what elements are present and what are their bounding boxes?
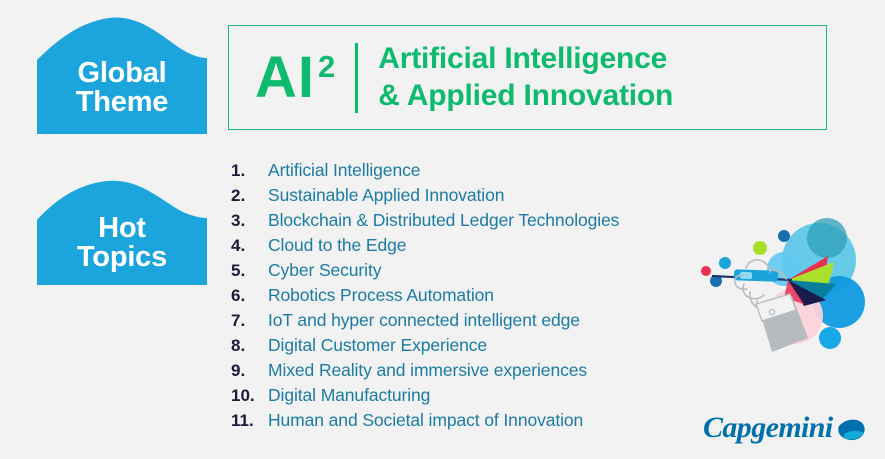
list-item-number: 6. xyxy=(231,286,268,306)
list-item-number: 2. xyxy=(231,186,268,206)
capgemini-swoosh-icon xyxy=(838,420,864,440)
list-item: 9. Mixed Reality and immersive experienc… xyxy=(231,360,619,385)
hand-throwing-dart-illustration xyxy=(700,218,872,373)
list-item-label: IoT and hyper connected intelligent edge xyxy=(268,310,580,331)
list-item-label: Human and Societal impact of Innovation xyxy=(268,410,583,431)
list-item: 5. Cyber Security xyxy=(231,260,619,285)
capgemini-wordmark: Capgemini xyxy=(703,411,834,444)
theme-title-text: Artificial Intelligence & Applied Innova… xyxy=(378,41,673,114)
list-item-number: 3. xyxy=(231,211,268,231)
list-item: 8. Digital Customer Experience xyxy=(231,335,619,360)
theme-title-box: AI 2 Artificial Intelligence & Applied I… xyxy=(228,25,827,130)
capgemini-logo: Capgemini xyxy=(703,405,868,451)
list-item-number: 10. xyxy=(231,386,268,406)
list-item-number: 1. xyxy=(231,161,268,181)
list-item-label: Cloud to the Edge xyxy=(268,235,406,256)
list-item: 6. Robotics Process Automation xyxy=(231,285,619,310)
list-item-number: 4. xyxy=(231,236,268,256)
list-item-label: Robotics Process Automation xyxy=(268,285,494,306)
title-divider xyxy=(355,43,358,113)
list-item-label: Artificial Intelligence xyxy=(268,160,420,181)
list-item: 3. Blockchain & Distributed Ledger Techn… xyxy=(231,210,619,235)
list-item: 7. IoT and hyper connected intelligent e… xyxy=(231,310,619,335)
list-item-label: Mixed Reality and immersive experiences xyxy=(268,360,587,381)
list-item: 11. Human and Societal impact of Innovat… xyxy=(231,410,619,435)
global-theme-badge-label: Global Theme xyxy=(76,59,168,134)
slide-canvas: Global Theme AI 2 Artificial Intelligenc… xyxy=(0,0,885,459)
ai-acronym-text: AI xyxy=(255,49,315,107)
list-item: 10. Digital Manufacturing xyxy=(231,385,619,410)
list-item-number: 11. xyxy=(231,411,268,431)
list-item-number: 7. xyxy=(231,311,268,331)
ai-acronym-superscript: 2 xyxy=(318,51,336,82)
list-item: 2. Sustainable Applied Innovation xyxy=(231,185,619,210)
list-item-label: Sustainable Applied Innovation xyxy=(268,185,504,206)
list-item-number: 5. xyxy=(231,261,268,281)
list-item-label: Digital Manufacturing xyxy=(268,385,430,406)
ai-squared-acronym: AI 2 xyxy=(255,49,333,107)
global-theme-badge: Global Theme xyxy=(37,16,207,134)
list-item: 4. Cloud to the Edge xyxy=(231,235,619,260)
list-item-label: Blockchain & Distributed Ledger Technolo… xyxy=(268,210,619,231)
hot-topics-badge-label: Hot Topics xyxy=(77,214,167,285)
list-item-label: Cyber Security xyxy=(268,260,381,281)
list-item-label: Digital Customer Experience xyxy=(268,335,487,356)
hot-topics-list: 1. Artificial Intelligence 2. Sustainabl… xyxy=(231,160,619,435)
hot-topics-badge: Hot Topics xyxy=(37,180,207,285)
list-item: 1. Artificial Intelligence xyxy=(231,160,619,185)
list-item-number: 8. xyxy=(231,336,268,356)
list-item-number: 9. xyxy=(231,361,268,381)
